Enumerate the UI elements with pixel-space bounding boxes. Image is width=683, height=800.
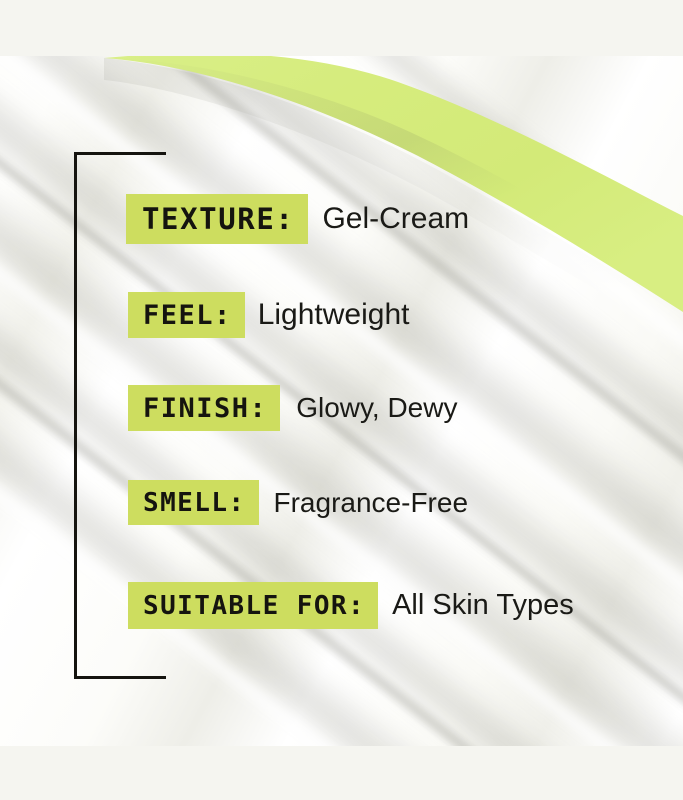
attribute-row-feel: FEEL: Lightweight xyxy=(128,292,409,338)
attribute-value-suitable-for: All Skin Types xyxy=(392,591,574,620)
attribute-label-finish: FINISH: xyxy=(128,385,280,431)
attribute-row-texture: TEXTURE: Gel-Cream xyxy=(126,194,469,244)
attribute-row-finish: FINISH: Glowy, Dewy xyxy=(128,385,457,431)
attribute-value-finish: Glowy, Dewy xyxy=(296,394,457,422)
attribute-label-feel: FEEL: xyxy=(128,292,245,338)
attribute-row-suitable-for: SUITABLE FOR: All Skin Types xyxy=(128,582,574,629)
attribute-value-feel: Lightweight xyxy=(258,300,410,330)
attribute-list: TEXTURE: Gel-Cream FEEL: Lightweight FIN… xyxy=(0,0,683,800)
attribute-value-texture: Gel-Cream xyxy=(322,204,469,234)
product-attributes-card: TEXTURE: Gel-Cream FEEL: Lightweight FIN… xyxy=(0,0,683,800)
attribute-label-suitable-for: SUITABLE FOR: xyxy=(128,582,378,629)
attribute-row-smell: SMELL: Fragrance-Free xyxy=(128,480,468,525)
attribute-value-smell: Fragrance-Free xyxy=(274,489,469,517)
attribute-label-smell: SMELL: xyxy=(128,480,259,525)
attribute-label-texture: TEXTURE: xyxy=(126,194,308,244)
